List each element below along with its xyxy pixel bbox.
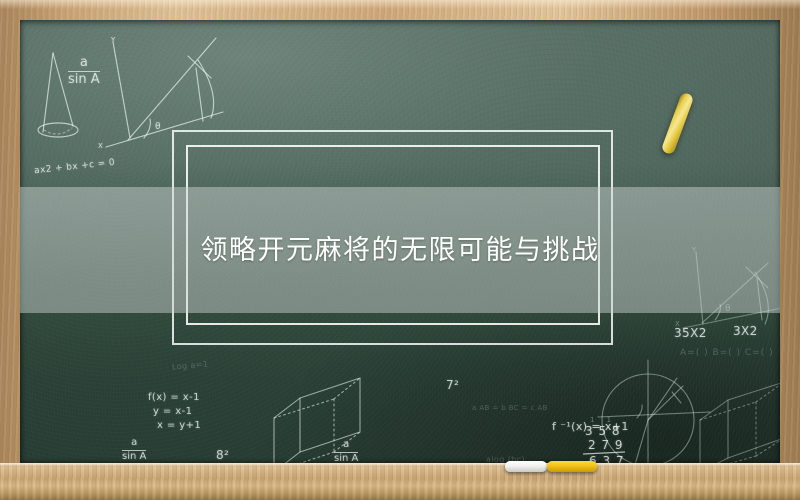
white-chalk-piece-icon xyxy=(505,461,547,472)
ledge-wood-grain xyxy=(0,463,800,500)
ledge-top-lip xyxy=(0,463,800,467)
frame-top-highlight xyxy=(0,0,800,9)
banner-stage: Y X θ a sin A ax2 + bx +c = 0 xyxy=(0,0,800,500)
yellow-chalk-piece-icon xyxy=(547,461,597,472)
chalk-ledge xyxy=(0,463,800,500)
page-title: 领略开元麻将的无限可能与挑战 xyxy=(0,228,800,267)
